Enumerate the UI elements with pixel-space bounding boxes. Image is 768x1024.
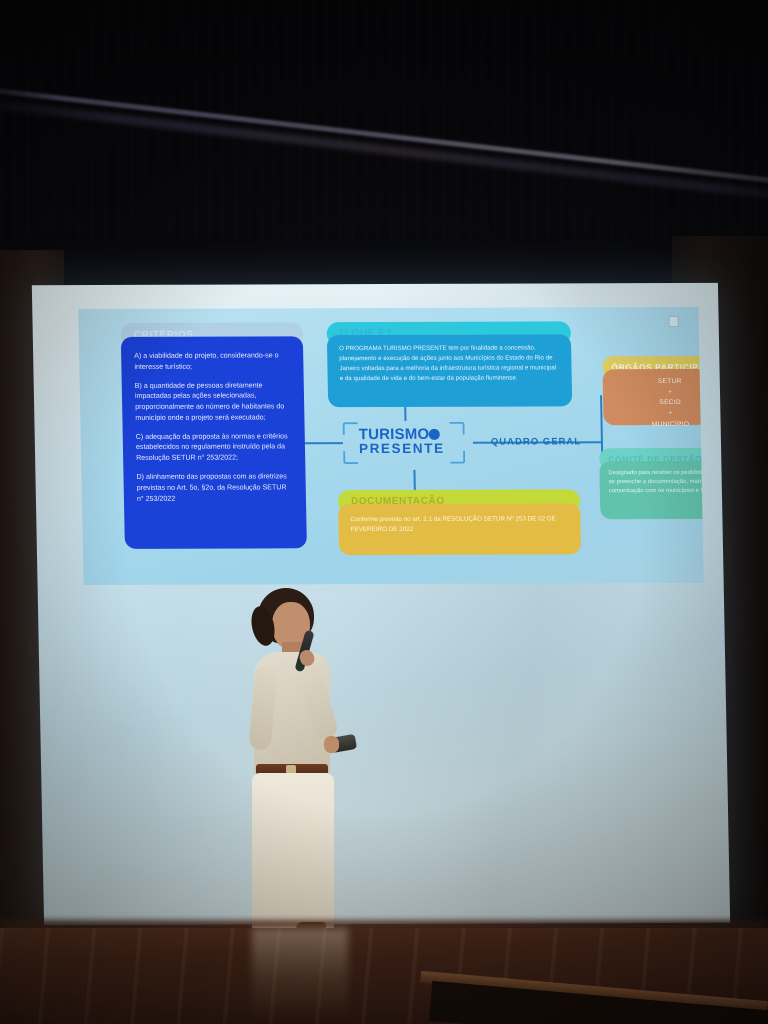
orgaos-participantes-card: SETUR + SECID + MUNICÍPIO [603, 369, 704, 425]
slide-corner-marker-icon [669, 316, 679, 327]
criterios-card: A) a viabilidade do projeto, considerand… [121, 336, 307, 549]
comite-de-gestao-text: Designado para receber os pedidos, anali… [608, 469, 703, 497]
logo-circle-icon [429, 429, 440, 440]
connector-line-left [305, 442, 343, 444]
auditorium-scene: CRITÉRIOS A) a viabilidade do projeto, c… [0, 0, 768, 1024]
projection-screen: CRITÉRIOS A) a viabilidade do projeto, c… [32, 283, 730, 925]
bracket-bottom-right-icon [450, 451, 465, 464]
documentacao-card: Conforme previsto no art. 2.1 da RESOLUÇ… [338, 503, 581, 555]
presenter-trousers [252, 773, 334, 935]
turismo-presente-logo: TURISMO PRESENTE [342, 420, 465, 468]
presenter-figure [238, 588, 366, 950]
connector-line-top [404, 407, 406, 421]
orgao-line: MUNICÍPIO [610, 419, 704, 430]
criterios-item: D) alinhamento das propostas com as dire… [136, 472, 293, 504]
presenter-floor-reflection [252, 928, 348, 1020]
bracket-bottom-left-icon [343, 451, 358, 464]
orgao-line: SECID [609, 398, 704, 409]
orgao-separator: + [609, 409, 703, 420]
connector-line-bottom [413, 470, 415, 492]
presenter-hand-holding-clicker [324, 736, 339, 753]
orgao-separator: + [609, 387, 704, 398]
presentation-slide: CRITÉRIOS A) a viabilidade do projeto, c… [78, 307, 703, 585]
quadro-geral-label: QUADRO GERAL [491, 435, 582, 446]
documentacao-text: Conforme previsto no art. 2.1 da RESOLUÇ… [350, 514, 568, 534]
bracket-top-right-icon [450, 422, 465, 435]
criterios-item: A) a viabilidade do projeto, considerand… [134, 350, 290, 372]
o-que-e-card: O PROGRAMA TURISMO PRESENTE tem por fina… [327, 334, 572, 407]
criterios-item: B) a quantidade de pessoas diretamente i… [135, 380, 292, 423]
orgao-line: SETUR [609, 377, 704, 388]
logo-line-2: PRESENTE [359, 442, 445, 456]
o-que-e-text: O PROGRAMA TURISMO PRESENTE tem por fina… [339, 343, 560, 384]
criterios-item: C) adequação da proposta às normas e cri… [136, 431, 293, 463]
bracket-top-left-icon [343, 422, 358, 435]
comite-de-gestao-card: Designado para receber os pedidos, anali… [599, 461, 703, 519]
